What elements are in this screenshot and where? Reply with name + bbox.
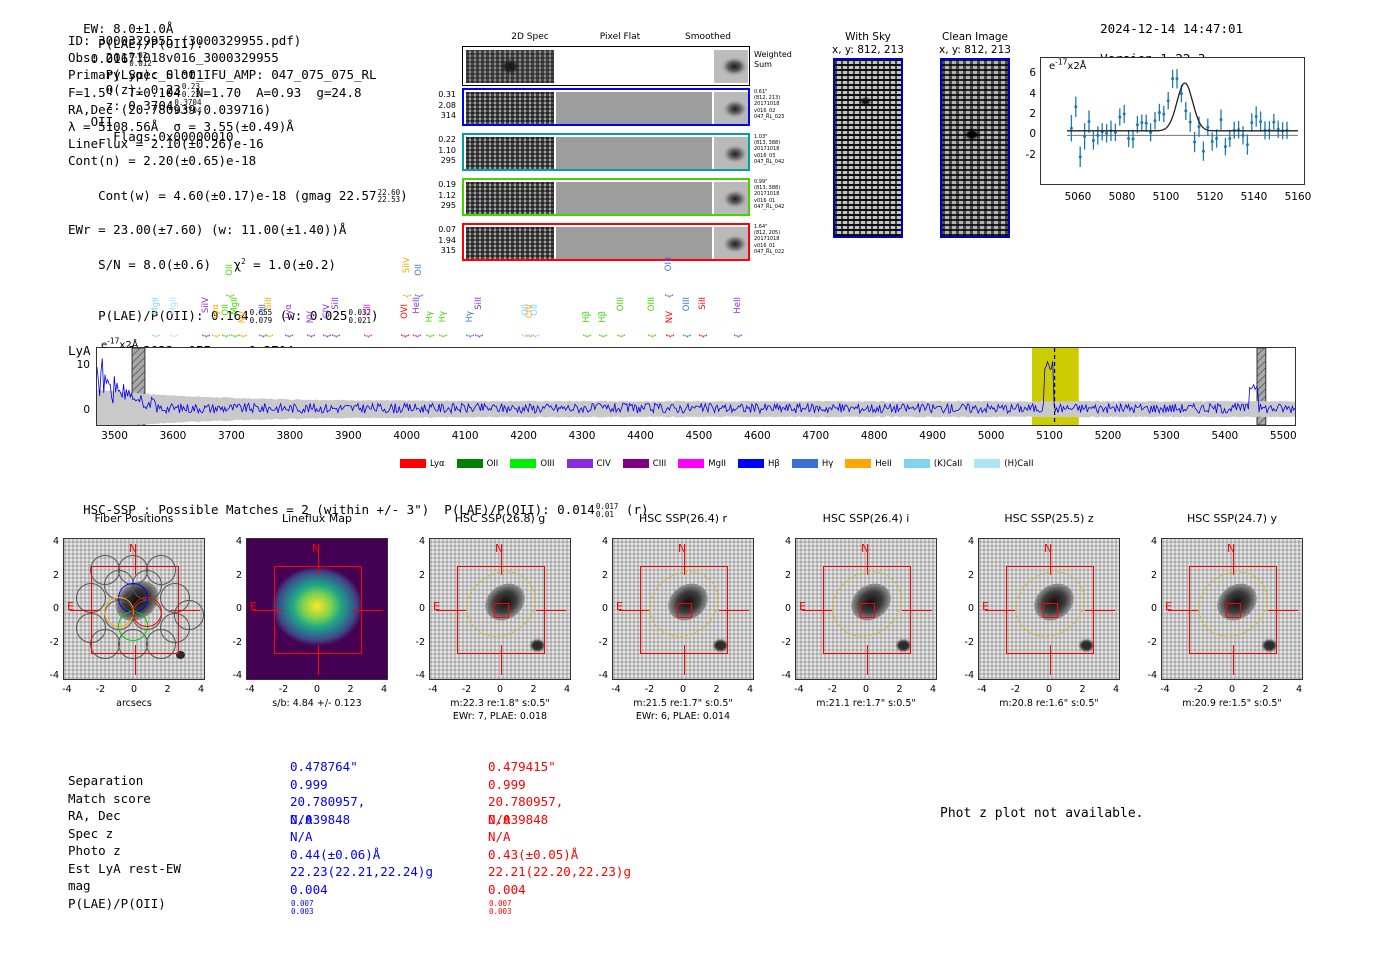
spectrum-line-brace: { (332, 333, 342, 339)
spectrum-line-label: OVI (400, 304, 410, 319)
cutout-image[interactable]: NE (978, 538, 1120, 680)
spectrum-xtick: 4200 (502, 430, 546, 442)
match-table-label: Separation (68, 772, 283, 790)
spectrum-line-brace: { (599, 333, 609, 339)
spectrum-line-brace: { (239, 333, 249, 339)
cutout-caption-primary: m:21.5 re:1.7" s:0.5" (590, 698, 776, 710)
cutout-ytick: -2 (771, 637, 791, 648)
lineplot-ytick: 6 (1014, 67, 1036, 79)
spectrum-xtick: 3900 (326, 430, 370, 442)
lineplot-ytick: 4 (1014, 88, 1036, 100)
spectrum-xtick: 5300 (1144, 430, 1188, 442)
spectrum-xtick: 3500 (93, 430, 137, 442)
cutout-ytick: 4 (954, 536, 974, 547)
lineplot-xtick: 5140 (1238, 191, 1270, 203)
legend-item: CIII (623, 453, 678, 472)
spectrum-line-brace: { (426, 333, 436, 339)
spec2d-title-pixelflat: Pixel Flat (570, 32, 670, 42)
cutout-xtick: 2 (339, 684, 363, 695)
spec2d-row-smoothed (714, 182, 748, 216)
cutout-xtick: -2 (1187, 684, 1211, 695)
lineplot-ytick: -2 (1014, 149, 1036, 161)
spectrum-line-brace: { (415, 293, 425, 299)
cutout-ytick: 4 (222, 536, 242, 547)
withsky-image[interactable] (833, 58, 903, 238)
legend-label: OIII (540, 459, 554, 469)
cutout-xtick: 0 (1037, 684, 1061, 695)
cutout-xtick: 4 (1104, 684, 1128, 695)
spectrum-line-label: NV (306, 311, 316, 323)
cutout-caption-primary: m:22.3 re:1.8" s:0.5" (407, 698, 593, 710)
spectrum-line-brace: { (364, 333, 374, 339)
spectrum-xtick: 5400 (1203, 430, 1247, 442)
spec2d-title-smoothed: Smoothed (658, 32, 758, 42)
cleanimage-coords: x, y: 812, 213 (925, 44, 1025, 56)
compass-n: N (1044, 542, 1052, 555)
legend-swatch (457, 459, 483, 468)
cutout-ytick: -4 (405, 670, 425, 681)
spectrum-line-label: OIII (647, 297, 657, 311)
cutout-xtick: 0 (305, 684, 329, 695)
spectrum-line-label: OIII (616, 297, 626, 311)
cutout-image[interactable]: NE (429, 538, 571, 680)
cutout-xtick: 2 (156, 684, 180, 695)
compass-n: N (129, 542, 137, 555)
spec2d-row-flat (556, 137, 712, 171)
cutout-ytick: -4 (588, 670, 608, 681)
spec2d-weighted-sum-smoothed (714, 50, 748, 83)
spectrum-xtick: 5200 (1086, 430, 1130, 442)
match-table-value-blue: 0.0040.0070.003 (290, 881, 328, 916)
spec2d-row-smoothed (714, 227, 748, 261)
spectrum-line-brace: { (531, 333, 541, 339)
info-ewr: EWr = 23.00(±7.60) (w: 11.00(±1.40))Å (68, 221, 408, 238)
match-table-value-red: 0.0040.0070.003 (488, 881, 526, 916)
lineplot-ytick: 0 (1014, 128, 1036, 140)
spectrum-line-label: SiII (331, 297, 341, 310)
spectrum-xtick: 4700 (794, 430, 838, 442)
header-timestamp: 2024-12-14 14:47:01 (1100, 21, 1243, 36)
spectrum-xtick: 5000 (969, 430, 1013, 442)
cutout-image[interactable]: NE (1161, 538, 1303, 680)
spectrum-line-label: Lyα (284, 304, 294, 319)
cutout-xtick: 2 (522, 684, 546, 695)
legend-item: HeII (845, 453, 904, 472)
cutout-image[interactable]: NE (612, 538, 754, 680)
spec2d-panel: 2D Spec Pixel Flat Smoothed (462, 32, 752, 46)
spectrum-xtick: 3800 (268, 430, 312, 442)
spectrum-line-brace: { (583, 333, 593, 339)
match-table-value-blue: 22.23(22.21,22.24)g (290, 863, 433, 881)
spectrum-line-label: OII (530, 304, 540, 316)
spectrum-line-label: Hβ (598, 311, 608, 323)
spectrum-line-brace: { (212, 333, 222, 339)
spectrum-line-brace: { (285, 333, 295, 339)
cutout-ytick: -2 (954, 637, 974, 648)
lineplot-ytick: 2 (1014, 108, 1036, 120)
cutout-xtick: -2 (638, 684, 662, 695)
withsky-coords: x, y: 812, 213 (823, 44, 913, 56)
legend-label: CIV (597, 459, 611, 469)
legend-swatch (567, 459, 593, 468)
spec2d-row-meta: 1.64"(812, 205)20171018v016_01047_RL_022 (754, 224, 814, 255)
spectrum-xtick: 4500 (677, 430, 721, 442)
cutout-ytick: 4 (405, 536, 425, 547)
cutout-caption-primary: m:20.9 re:1.5" s:0.5" (1139, 698, 1325, 710)
spectrum-xtick: 4000 (385, 430, 429, 442)
spectrum-line-brace: { (648, 333, 658, 339)
spec2d-weighted-sum-flat (558, 50, 712, 83)
lineplot-xtick: 5160 (1282, 191, 1314, 203)
spectrum-line-label: MgII (169, 297, 179, 315)
full-spectrum-plot[interactable] (96, 347, 1296, 426)
spectrum-line-label: OIII (682, 297, 692, 311)
spec2d-row-meta: 0.99"(813, 388)20171018v016_01047_RL_042 (754, 179, 814, 210)
cutout-xtick: 2 (1254, 684, 1278, 695)
cutout-xtick: 4 (189, 684, 213, 695)
compass-n: N (495, 542, 503, 555)
spectrum-legend: LyαOIIOIIICIVCIIIMgIIHβHγHeII(K)CaII(H)C… (400, 453, 1045, 472)
cutout-ytick: -4 (1137, 670, 1157, 681)
cutout-ytick: -2 (588, 637, 608, 648)
info-lambda-sigma: λ = 5108.56Å σ = 3.55(±0.49)Å (68, 118, 408, 135)
spectrum-line-brace: { (665, 293, 675, 299)
legend-item: MgII (678, 453, 738, 472)
spectrum-xtick: 4400 (618, 430, 662, 442)
legend-swatch (845, 459, 871, 468)
spec2d-row-flat (556, 227, 712, 261)
cutout-image[interactable]: NE (63, 538, 205, 680)
match-table-value-blue: N/A (290, 811, 313, 829)
cutout-xtick: -2 (89, 684, 113, 695)
match-table-value-blue: 0.44(±0.06)Å (290, 846, 380, 864)
cutout-ytick: 0 (405, 603, 425, 614)
legend-label: (H)CaII (1004, 459, 1033, 469)
legend-label: CIII (653, 459, 666, 469)
legend-item: OII (457, 453, 511, 472)
lineplot-xtick: 5120 (1194, 191, 1226, 203)
cutout-xtick: 4 (921, 684, 945, 695)
spectrum-line-brace: { (617, 333, 627, 339)
compass-n: N (1227, 542, 1235, 555)
cutout-title: HSC SSP(26.8) g (411, 512, 589, 525)
spectrum-xtick: 4900 (911, 430, 955, 442)
cutout-xtick: -2 (821, 684, 845, 695)
spectrum-line-label: NV (665, 311, 675, 323)
legend-label: OII (487, 459, 499, 469)
legend-item: CIV (567, 453, 623, 472)
spectrum-line-label: Hγ (425, 311, 435, 322)
info-fit-params: F=1.5" T=0.104 N=1.70 A=0.93 g=24.8 (68, 84, 408, 101)
cutout-title: HSC SSP(25.5) z (960, 512, 1138, 525)
legend-label: Hγ (822, 459, 833, 469)
spec2d-weighted-sum-strip (462, 46, 750, 86)
spectrum-line-label: OIII (664, 257, 674, 271)
spec2d-row[interactable] (462, 88, 750, 126)
spectrum-line-label: Hγ (438, 311, 448, 322)
cleanimage-image[interactable] (940, 58, 1010, 238)
spectrum-line-label: Hβ (582, 311, 592, 323)
cutout-xtick: -4 (55, 684, 79, 695)
cutout-ytick: 4 (771, 536, 791, 547)
match-table-label: RA, Dec (68, 807, 283, 825)
cutout-row: Fiber PositionsNE420-2-4-4-2024arcsecsLi… (0, 512, 1400, 727)
cutout-ytick: 4 (588, 536, 608, 547)
spectrum-xtick: 4300 (560, 430, 604, 442)
cutout-ytick: -4 (954, 670, 974, 681)
info-obs: Obs: 20171018v016_3000329955 (68, 49, 408, 66)
cutout-ytick: 0 (954, 603, 974, 614)
lineplot-xtick: 5100 (1150, 191, 1182, 203)
compass-n: N (312, 542, 320, 555)
spec2d-row[interactable] (462, 223, 750, 261)
info-cont-w: Cont(w) = 4.60(±0.17)e-18 (gmag 22.5722.… (68, 170, 408, 222)
spectrum-xtick: 5100 (1028, 430, 1072, 442)
match-table-value-red: 0.43(±0.05)Å (488, 846, 578, 864)
lineplot-xtick: 5080 (1106, 191, 1138, 203)
cutout-title: HSC SSP(26.4) r (594, 512, 772, 525)
legend-swatch (510, 459, 536, 468)
spectrum-line-brace: { (666, 333, 676, 339)
spectrum-line-label: Hγ (465, 311, 475, 322)
photz-unavailable-note: Phot z plot not available. (940, 806, 1144, 821)
cutout-xtick: 2 (888, 684, 912, 695)
spectrum-xtick: 4600 (735, 430, 779, 442)
compass-e: E (67, 600, 74, 613)
legend-swatch (623, 459, 649, 468)
match-table-value-red: 22.21(22.20,22.23)g (488, 863, 631, 881)
compass-e: E (1165, 600, 1172, 613)
spectrum-line-brace: { (401, 333, 411, 339)
spectrum-line-brace: { (439, 333, 449, 339)
compass-e: E (616, 600, 623, 613)
cutout-xtick: -2 (272, 684, 296, 695)
cutout-ytick: 2 (954, 570, 974, 581)
cutout-ytick: 0 (222, 603, 242, 614)
legend-item: OIII (510, 453, 566, 472)
legend-label: MgII (708, 459, 726, 469)
cutout-ytick: -4 (39, 670, 59, 681)
cutout-xtick: -4 (787, 684, 811, 695)
legend-item: Hγ (792, 453, 845, 472)
spectrum-xtick: 4800 (852, 430, 896, 442)
cutout-ytick: 2 (771, 570, 791, 581)
spectrum-ytick: 10 (64, 359, 90, 371)
cutout-ytick: 4 (39, 536, 59, 547)
cutout-ytick: 0 (1137, 603, 1157, 614)
match-table-label: mag (68, 877, 283, 895)
spec2d-row-raw (466, 137, 554, 171)
spectrum-ytick: 0 (64, 404, 90, 416)
match-table-label: Est LyA rest-EW (68, 860, 283, 878)
spec2d-row-smoothed (714, 92, 748, 126)
info-lineflux: LineFlux = 2.10(±0.26)e-16 (68, 135, 408, 152)
spec2d-row-raw (466, 182, 554, 216)
compass-e: E (433, 600, 440, 613)
spectrum-flux-unit: e-17x2Å (101, 340, 139, 351)
emission-line-zoom-plot[interactable] (1040, 57, 1305, 185)
legend-item: (K)CaII (904, 453, 974, 472)
spectrum-line-brace: { (170, 333, 180, 339)
compass-e: E (799, 600, 806, 613)
info-id: ID: 3000329955 (3000329955.pdf) (68, 32, 408, 49)
compass-e: E (982, 600, 989, 613)
spec2d-row-stats: 0.312.08314 (422, 90, 456, 122)
cutout-xtick: 4 (738, 684, 762, 695)
cutout-xtick: 0 (854, 684, 878, 695)
cutout-xtick: 2 (705, 684, 729, 695)
legend-item: (H)CaII (974, 453, 1045, 472)
cutout-title: HSC SSP(24.7) y (1143, 512, 1321, 525)
legend-swatch (974, 459, 1000, 468)
cutout-xtick: -4 (421, 684, 445, 695)
spectrum-xtick: 5500 (1261, 430, 1305, 442)
match-table-label: Spec z (68, 825, 283, 843)
cutout-ytick: -4 (222, 670, 242, 681)
spec2d-weighted-sum-data (466, 50, 554, 83)
cutout-xtick: -2 (1004, 684, 1028, 695)
match-table-value-blue: 0.999 (290, 776, 328, 794)
spec2d-row-stats: 0.221.10295 (422, 135, 456, 167)
cutout-image[interactable]: NE (246, 538, 388, 680)
cutout-ytick: 2 (405, 570, 425, 581)
cutout-ytick: -4 (771, 670, 791, 681)
match-table-label: Photo z (68, 842, 283, 860)
legend-label: Hβ (768, 459, 780, 469)
spectrum-line-brace: { (699, 333, 709, 339)
spectrum-line-label: HeII (733, 297, 743, 314)
spec2d-row-stats: 0.191.12295 (422, 180, 456, 212)
cutout-xtick: 4 (372, 684, 396, 695)
match-table-value-blue: N/A (290, 828, 313, 846)
legend-label: Lyα (430, 459, 445, 469)
spectrum-line-label: SiII (474, 297, 484, 310)
cutout-xtick: -4 (970, 684, 994, 695)
legend-swatch (400, 459, 426, 468)
spec2d-row-flat (556, 92, 712, 126)
cutout-xtick: 2 (1071, 684, 1095, 695)
spec2d-row[interactable] (462, 133, 750, 171)
match-table-label: P(LAE)/P(OII) (68, 895, 283, 913)
spec2d-row[interactable] (462, 178, 750, 216)
legend-item: Lyα (400, 453, 457, 472)
withsky-title: With Sky (823, 31, 913, 43)
spec2d-weighted-sum-label: Weighted Sum (754, 50, 792, 70)
spectrum-line-label: HeII (412, 297, 422, 314)
cutout-xtick: 0 (1220, 684, 1244, 695)
compass-n: N (678, 542, 686, 555)
cutout-xtick: -4 (238, 684, 262, 695)
spectrum-line-label: SiIV (402, 257, 412, 273)
legend-item: Hβ (738, 453, 792, 472)
legend-swatch (678, 459, 704, 468)
cutout-ytick: -2 (1137, 637, 1157, 648)
cutout-ytick: 2 (1137, 570, 1157, 581)
cutout-caption-primary: m:21.1 re:1.7" s:0.5" (773, 698, 959, 710)
match-table-value-blue: 0.478764" (290, 758, 358, 776)
spectrum-line-label: SiII (264, 297, 274, 310)
spec2d-row-meta: 0.61"(812, 213)20171018v016_02047_RL_023 (754, 89, 814, 120)
cutout-xtick: 4 (555, 684, 579, 695)
spectrum-line-label: Lyα (211, 304, 221, 319)
cutout-ytick: 4 (1137, 536, 1157, 547)
spectrum-line-label: OII (414, 264, 424, 276)
spectrum-line-label: SiIV (201, 297, 211, 313)
compass-e: E (250, 600, 257, 613)
match-table-value-red: 0.999 (488, 776, 526, 794)
cutout-ytick: -2 (405, 637, 425, 648)
cutout-ytick: 2 (222, 570, 242, 581)
spectrum-line-brace: { (265, 333, 275, 339)
spec2d-row-meta: 1.03"(813, 388)20171018v016_03047_RL_042 (754, 134, 814, 165)
legend-label: (K)CaII (934, 459, 962, 469)
spectrum-line-labels: {MgII{MgII{SiIV{Lyα{OII{OII{MgII{NV{OII{… (96, 275, 1296, 347)
info-gmag-range: 22.6022.53 (378, 189, 401, 204)
cutout-ytick: 2 (39, 570, 59, 581)
match-table-label: Match score (68, 790, 283, 808)
spectrum-xtick: 3600 (151, 430, 195, 442)
cutout-xtick: -2 (455, 684, 479, 695)
spec2d-title-2dspec: 2D Spec (480, 32, 580, 42)
spec2d-row-flat (556, 182, 712, 216)
cutout-title: HSC SSP(26.4) i (777, 512, 955, 525)
spectrum-line-brace: { (413, 333, 423, 339)
spectrum-line-label: SiII (698, 297, 708, 310)
legend-swatch (792, 459, 818, 468)
cutout-ytick: -2 (39, 637, 59, 648)
cutout-ytick: 0 (588, 603, 608, 614)
legend-label: HeII (875, 459, 892, 469)
compass-n: N (861, 542, 869, 555)
spectrum-line-brace: { (152, 333, 162, 339)
spectrum-line-brace: { (683, 333, 693, 339)
cutout-ytick: 0 (39, 603, 59, 614)
cutout-title: Fiber Positions (45, 512, 223, 525)
info-cont-n: Cont(n) = 2.20(±0.65)e-18 (68, 152, 408, 169)
spectrum-line-brace: { (734, 333, 744, 339)
match-table-value-red: 0.479415" (488, 758, 556, 776)
match-table-value-red: N/A (488, 811, 511, 829)
cutout-caption-secondary: EWr: 7, PLAE: 0.018 (407, 711, 593, 723)
lineplot-flux-unit: e-17x2Å (1049, 61, 1087, 72)
cutout-caption-primary: m:20.8 re:1.6" s:0.5" (956, 698, 1142, 710)
spectrum-line-label: CII (363, 304, 373, 315)
cutout-ytick: 2 (588, 570, 608, 581)
spectrum-line-label: MgII (151, 297, 161, 315)
spec2d-row-smoothed (714, 137, 748, 171)
cutout-xtick: 0 (122, 684, 146, 695)
info-primary-spec: Primary Spec_Slot_IFU_AMP: 047_075_075_R… (68, 66, 408, 83)
cutout-image[interactable]: NE (795, 538, 937, 680)
legend-swatch (904, 459, 930, 468)
spec2d-row-raw (466, 227, 554, 261)
cutout-caption-primary: s/b: 4.84 +/- 0.123 (224, 698, 410, 710)
cutout-caption-primary: arcsecs (41, 698, 227, 710)
spectrum-line-label: OII (225, 264, 235, 276)
cutout-caption-secondary: EWr: 6, PLAE: 0.014 (590, 711, 776, 723)
lineplot-xtick: 5060 (1062, 191, 1094, 203)
legend-swatch (738, 459, 764, 468)
cutout-xtick: 4 (1287, 684, 1311, 695)
cutout-xtick: -4 (604, 684, 628, 695)
cutout-xtick: -4 (1153, 684, 1177, 695)
cutout-ytick: -2 (222, 637, 242, 648)
spectrum-xtick: 4100 (443, 430, 487, 442)
spec2d-row-stats: 0.071.94315 (422, 225, 456, 257)
spectrum-line-brace: { (202, 333, 212, 339)
cutout-xtick: 0 (488, 684, 512, 695)
spectrum-line-label: NV (238, 311, 248, 323)
